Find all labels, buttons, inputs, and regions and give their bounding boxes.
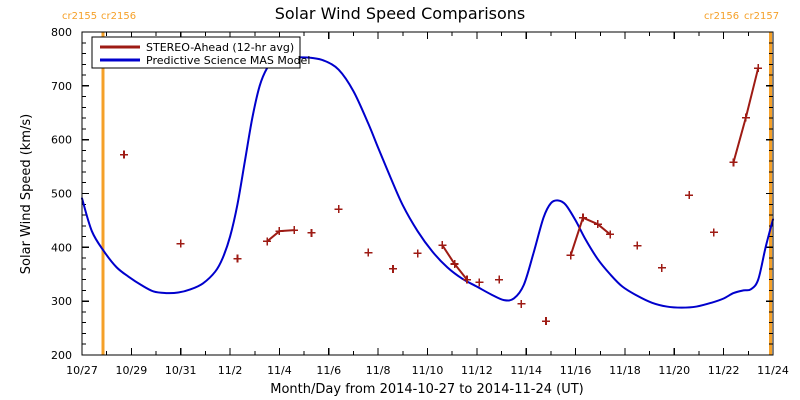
x-tick-label: 11/2 (218, 364, 243, 377)
y-tick-label: 800 (51, 26, 72, 39)
x-tick-label: 11/20 (658, 364, 690, 377)
stereo-ahead-data-point (542, 317, 550, 325)
stereo-ahead-data-point (658, 264, 666, 272)
y-tick-label: 500 (51, 188, 72, 201)
x-tick-label: 11/18 (609, 364, 641, 377)
y-tick-label: 700 (51, 80, 72, 93)
y-tick-label: 400 (51, 241, 72, 254)
legend-label-stereo-ahead: STEREO-Ahead (12-hr avg) (146, 41, 294, 54)
x-tick-label: 11/6 (316, 364, 341, 377)
carrington-label-right-2157: cr2157 (744, 11, 779, 22)
carrington-label-left-2156: cr2156 (101, 11, 136, 22)
stereo-ahead-data-point (710, 228, 718, 236)
y-axis-tick-labels: 200300400500600700800 (51, 26, 72, 362)
chart-legend: STEREO-Ahead (12-hr avg) Predictive Scie… (92, 37, 310, 68)
stereo-ahead-data-point (308, 229, 316, 237)
x-tick-label: 10/29 (116, 364, 148, 377)
mas-model-curve (82, 57, 773, 307)
y-tick-label: 200 (51, 349, 72, 362)
legend-label-mas-model: Predictive Science MAS Model (146, 54, 310, 67)
series-stereo-ahead (120, 64, 762, 325)
x-tick-label: 11/8 (366, 364, 391, 377)
stereo-ahead-data-point (517, 300, 525, 308)
stereo-ahead-data-point (742, 114, 750, 122)
x-tick-label: 11/22 (708, 364, 740, 377)
stereo-ahead-data-point (579, 214, 587, 222)
stereo-ahead-data-point (233, 255, 241, 263)
stereo-ahead-data-point (364, 249, 372, 257)
x-tick-label: 11/12 (461, 364, 493, 377)
stereo-ahead-data-point (389, 265, 397, 273)
stereo-ahead-data-point (567, 251, 575, 259)
x-tick-label: 11/14 (510, 364, 542, 377)
stereo-ahead-data-point (335, 205, 343, 213)
solar-wind-speed-chart: Solar Wind Speed Comparisons cr2155 cr21… (0, 0, 800, 400)
x-tick-label: 10/31 (165, 364, 197, 377)
x-tick-label: 11/24 (757, 364, 789, 377)
x-tick-label: 11/16 (560, 364, 592, 377)
stereo-ahead-data-point (685, 191, 693, 199)
carrington-label-right-2156: cr2156 (704, 11, 739, 22)
stereo-ahead-data-point (495, 276, 503, 284)
stereo-ahead-data-point (633, 242, 641, 250)
stereo-ahead-data-point (290, 226, 298, 234)
y-tick-label: 300 (51, 295, 72, 308)
stereo-ahead-data-point (730, 158, 738, 166)
x-axis-tick-labels: 10/2710/2910/3111/211/411/611/811/1011/1… (66, 364, 789, 377)
chart-title: Solar Wind Speed Comparisons (275, 4, 526, 23)
x-tick-label: 10/27 (66, 364, 98, 377)
x-axis-label: Month/Day from 2014-10-27 to 2014-11-24 … (270, 382, 583, 397)
stereo-ahead-data-point (475, 278, 483, 286)
stereo-ahead-data-point (754, 64, 762, 72)
series-predictive-science-mas-model (82, 57, 773, 307)
stereo-ahead-data-point (414, 249, 422, 257)
carrington-label-left-2155: cr2155 (62, 11, 97, 22)
y-tick-label: 600 (51, 134, 72, 147)
stereo-ahead-data-point (120, 151, 128, 159)
x-tick-label: 11/10 (412, 364, 444, 377)
y-axis-label: Solar Wind Speed (km/s) (19, 114, 34, 274)
x-tick-label: 11/4 (267, 364, 292, 377)
stereo-ahead-data-point (177, 240, 185, 248)
chart-root: Solar Wind Speed Comparisons cr2155 cr21… (0, 0, 800, 400)
